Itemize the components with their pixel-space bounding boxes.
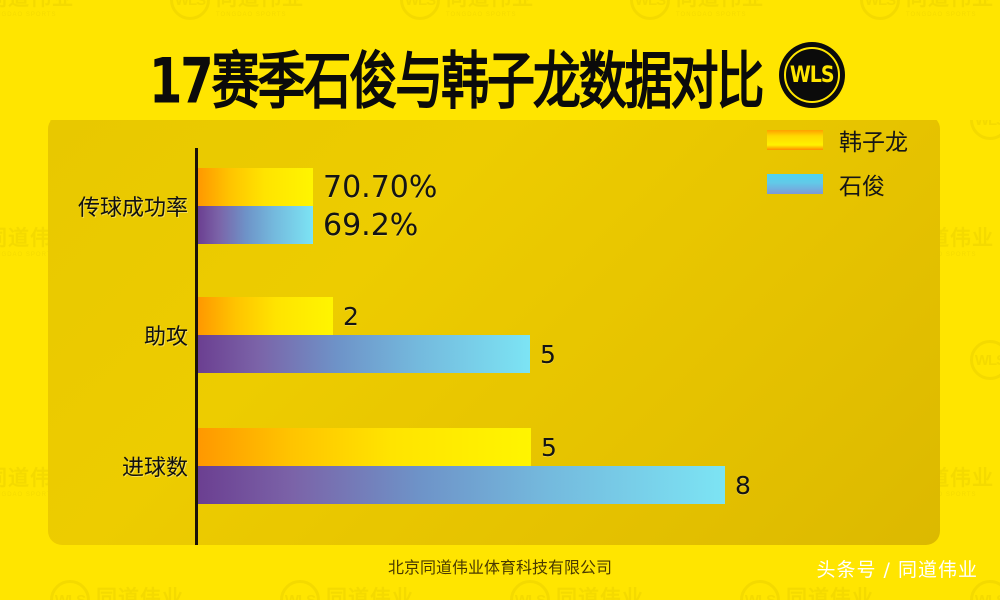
bar-series-1[interactable] (198, 168, 313, 206)
legend-item: 石俊 (767, 167, 908, 201)
watermark-logo-icon: WLS (280, 580, 320, 600)
watermark-mark: WLS同道伟业TONGDAO SPORTS (280, 580, 414, 600)
watermark-mark: WLS同道伟业TONGDAO SPORTS (630, 0, 764, 20)
bar-stack: 58 (198, 428, 751, 504)
watermark-text: 同道伟业 (326, 582, 414, 600)
watermark-logo-icon: WLS (860, 0, 900, 20)
watermark-logo-icon: WLS (740, 580, 780, 600)
legend-swatch-icon (767, 130, 823, 150)
category-label: 助攻 (144, 319, 188, 351)
bar-value-label: 2 (343, 302, 359, 331)
footer-account: 头条号 / 同道伟业 (817, 555, 978, 582)
watermark-subtext: TONGDAO SPORTS (216, 12, 304, 18)
watermark-logo-icon: WLS (400, 0, 440, 20)
legend-label: 石俊 (839, 167, 885, 201)
watermark-logo-icon: WLS (170, 0, 210, 20)
watermark-text: 同道伟业 (446, 0, 534, 12)
bar-series-1[interactable] (198, 297, 333, 335)
watermark-mark: WLS同道伟业TONGDAO SPORTS (170, 0, 304, 20)
watermark-mark: WLS同道伟业TONGDAO SPORTS (510, 580, 644, 600)
bar-value-label: 8 (735, 471, 751, 500)
category-label: 传球成功率 (78, 190, 188, 222)
legend-swatch-icon (767, 174, 823, 194)
watermark-logo-icon: WLS (50, 580, 90, 600)
page-title: 17赛季石俊与韩子龙数据对比 (149, 29, 762, 120)
category-label: 进球数 (122, 450, 188, 482)
watermark-mark: WLS同道伟业TONGDAO SPORTS (50, 580, 184, 600)
bar-series-2[interactable] (198, 206, 313, 244)
bar-series-1[interactable] (198, 428, 531, 466)
watermark-subtext: TONGDAO SPORTS (446, 12, 534, 18)
bar-stack: 70.70%69.2% (198, 168, 437, 244)
watermark-text: 同道伟业 (786, 582, 874, 600)
bar-stack: 25 (198, 297, 556, 373)
watermark-mark: WLS同道伟业TONGDAO SPORTS (740, 580, 874, 600)
bar-row[interactable]: 70.70% (198, 168, 437, 206)
chart-panel: 韩子龙石俊 传球成功率70.70%69.2%助攻25进球数58 (48, 115, 940, 545)
brand-logo-icon: WLS (779, 42, 845, 108)
bar-row[interactable]: 5 (198, 428, 751, 466)
watermark-mark: WLS同道伟业TONGDAO SPORTS (0, 0, 74, 20)
bar-series-2[interactable] (198, 335, 530, 373)
bar-row[interactable]: 69.2% (198, 206, 437, 244)
watermark-text: 同道伟业 (96, 582, 184, 600)
legend-label: 韩子龙 (839, 123, 908, 157)
watermark-text: 同道伟业 (0, 0, 74, 12)
watermark-logo-icon: WLS (630, 0, 670, 20)
bar-value-label: 69.2% (323, 208, 418, 243)
bar-value-label: 5 (541, 433, 557, 462)
watermark-mark: WLS同道伟业TONGDAO SPORTS (970, 580, 1000, 600)
watermark-mark: WLS同道伟业TONGDAO SPORTS (400, 0, 534, 20)
watermark-logo-icon: WLS (970, 580, 1000, 600)
watermark-text: 同道伟业 (906, 0, 994, 12)
chart-legend: 韩子龙石俊 (767, 123, 908, 201)
watermark-text: 同道伟业 (556, 582, 644, 600)
watermark-logo-icon: WLS (510, 580, 550, 600)
legend-item: 韩子龙 (767, 123, 908, 157)
watermark-logo-icon: WLS (970, 340, 1000, 380)
watermark-mark: WLS同道伟业TONGDAO SPORTS (860, 0, 994, 20)
bar-row[interactable]: 2 (198, 297, 556, 335)
bar-value-label: 5 (540, 340, 556, 369)
brand-logo-label: WLS (790, 62, 834, 87)
title-band: 17赛季石俊与韩子龙数据对比 WLS (0, 30, 1000, 120)
bar-series-2[interactable] (198, 466, 725, 504)
watermark-subtext: TONGDAO SPORTS (0, 12, 74, 18)
watermark-text: 同道伟业 (216, 0, 304, 12)
watermark-subtext: TONGDAO SPORTS (906, 12, 994, 18)
bar-row[interactable]: 5 (198, 335, 556, 373)
watermark-text: 同道伟业 (676, 0, 764, 12)
bar-value-label: 70.70% (323, 170, 437, 205)
watermark-subtext: TONGDAO SPORTS (676, 12, 764, 18)
bar-row[interactable]: 8 (198, 466, 751, 504)
watermark-mark: WLS同道伟业TONGDAO SPORTS (970, 340, 1000, 380)
